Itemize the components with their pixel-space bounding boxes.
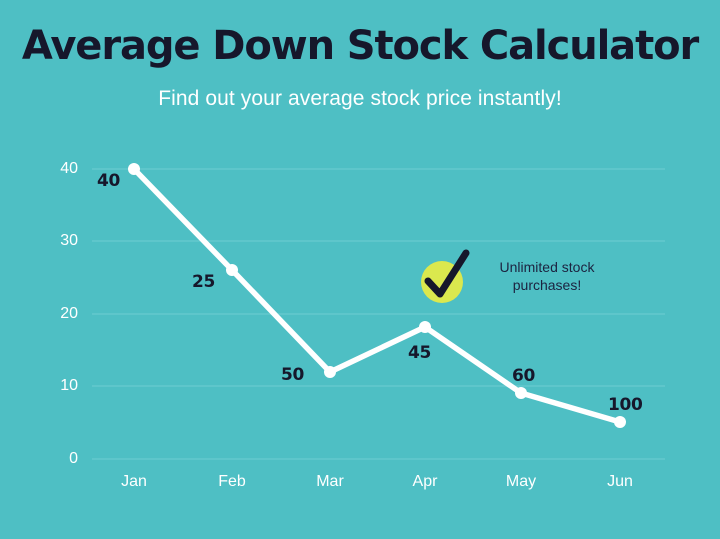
y-tick-label-40: 40 <box>32 161 78 177</box>
line-chart: 40 30 20 10 0 Jan Feb Mar Apr May Jun 40… <box>0 140 720 500</box>
data-line <box>134 169 620 422</box>
data-point-markers <box>128 163 626 428</box>
data-label-feb: 25 <box>192 274 215 291</box>
check-circle-icon <box>421 261 463 303</box>
y-tick-label-30: 30 <box>32 233 78 249</box>
y-tick-label-0: 0 <box>32 451 78 467</box>
page-title: Average Down Stock Calculator <box>0 0 720 70</box>
x-tick-label-mar: Mar <box>290 474 370 490</box>
x-tick-label-may: May <box>481 474 561 490</box>
infographic-canvas: Average Down Stock Calculator Find out y… <box>0 0 720 539</box>
data-label-apr: 45 <box>408 345 431 362</box>
x-tick-label-jan: Jan <box>94 474 174 490</box>
page-subtitle: Find out your average stock price instan… <box>0 70 720 112</box>
data-label-jan: 40 <box>97 173 120 190</box>
check-icon <box>418 247 476 305</box>
chart-plot-area <box>0 140 720 500</box>
x-tick-label-feb: Feb <box>192 474 272 490</box>
callout-line-1: Unlimited stock <box>477 258 617 276</box>
x-tick-label-apr: Apr <box>385 474 465 490</box>
data-label-mar: 50 <box>281 367 304 384</box>
y-tick-label-20: 20 <box>32 306 78 322</box>
callout-line-2: purchases! <box>477 276 617 294</box>
data-label-may: 60 <box>512 368 535 385</box>
data-label-jun: 100 <box>608 397 643 414</box>
header: Average Down Stock Calculator Find out y… <box>0 0 720 112</box>
x-tick-label-jun: Jun <box>580 474 660 490</box>
y-tick-label-10: 10 <box>32 378 78 394</box>
callout-text: Unlimited stock purchases! <box>477 258 617 294</box>
